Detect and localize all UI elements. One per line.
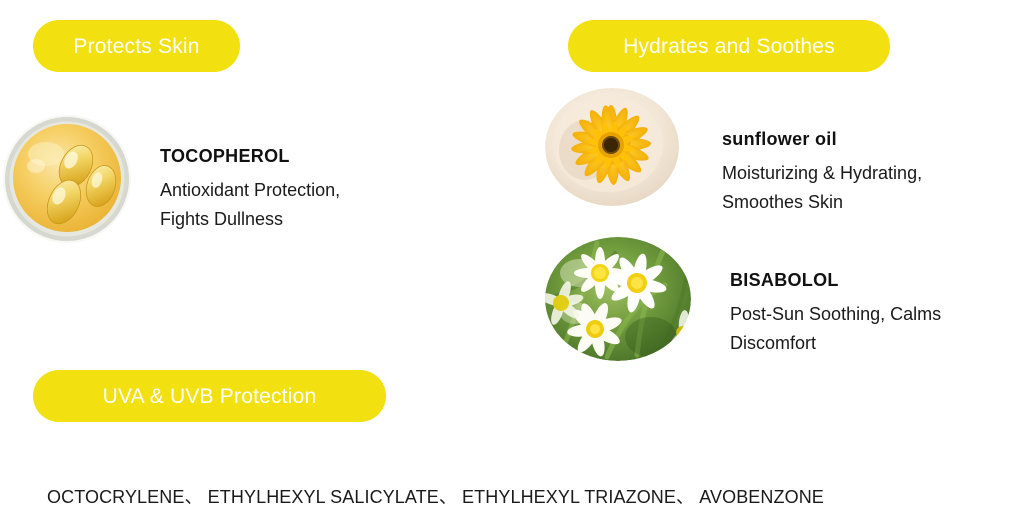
badge-uva-uvb-protection-label: UVA & UVB Protection [103,386,317,407]
uv-filter-ingredient-list: OCTOCRYLENE、 ETHYLHEXYL SALICYLATE、 ETHY… [47,486,824,508]
ingredient-copy-tocopherol: TOCOPHEROL Antioxidant Protection, Fight… [160,147,340,234]
ingredient-image-bisabolol [545,237,691,361]
ingredient-desc-bisabolol-line1: Post-Sun Soothing, Calms [730,300,941,329]
badge-protects-skin-label: Protects Skin [73,36,199,57]
ingredient-desc-bisabolol-line2: Discomfort [730,329,941,358]
ingredient-desc-sunflower-oil-line1: Moisturizing & Hydrating, [722,159,922,188]
badge-protects-skin: Protects Skin [33,20,240,72]
badge-hydrates-and-soothes: Hydrates and Soothes [568,20,890,72]
ingredient-desc-sunflower-oil-line2: Smoothes Skin [722,188,922,217]
ingredient-name-sunflower-oil: sunflower oil [722,130,922,150]
ingredient-image-tocopherol [2,114,132,244]
badge-hydrates-and-soothes-label: Hydrates and Soothes [623,36,835,57]
ingredient-name-bisabolol: BISABOLOL [730,271,941,291]
badge-uva-uvb-protection: UVA & UVB Protection [33,370,386,422]
ingredient-desc-tocopherol-line1: Antioxidant Protection, [160,176,340,205]
ingredient-copy-bisabolol: BISABOLOL Post-Sun Soothing, Calms Disco… [730,271,941,358]
ingredient-copy-sunflower-oil: sunflower oil Moisturizing & Hydrating, … [722,130,922,217]
ingredient-image-sunflower-oil [545,88,679,206]
infographic-canvas: Protects Skin Hydrates and Soothes UVA &… [0,0,1022,508]
ingredient-desc-tocopherol-line2: Fights Dullness [160,205,340,234]
ingredient-name-tocopherol: TOCOPHEROL [160,147,340,167]
